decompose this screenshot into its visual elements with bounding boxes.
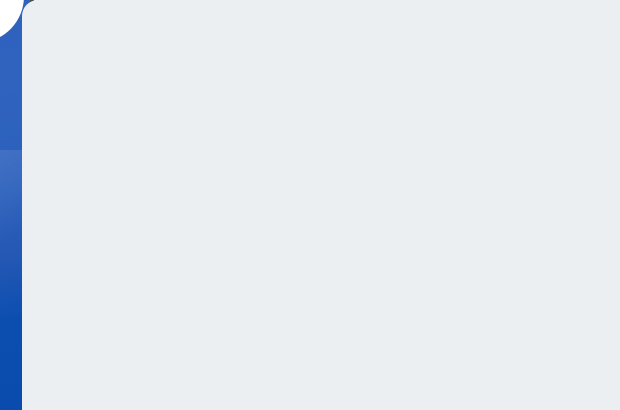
task-card [22,0,620,410]
screenshot-stage: Repeat task (business automation) every … [0,0,620,410]
